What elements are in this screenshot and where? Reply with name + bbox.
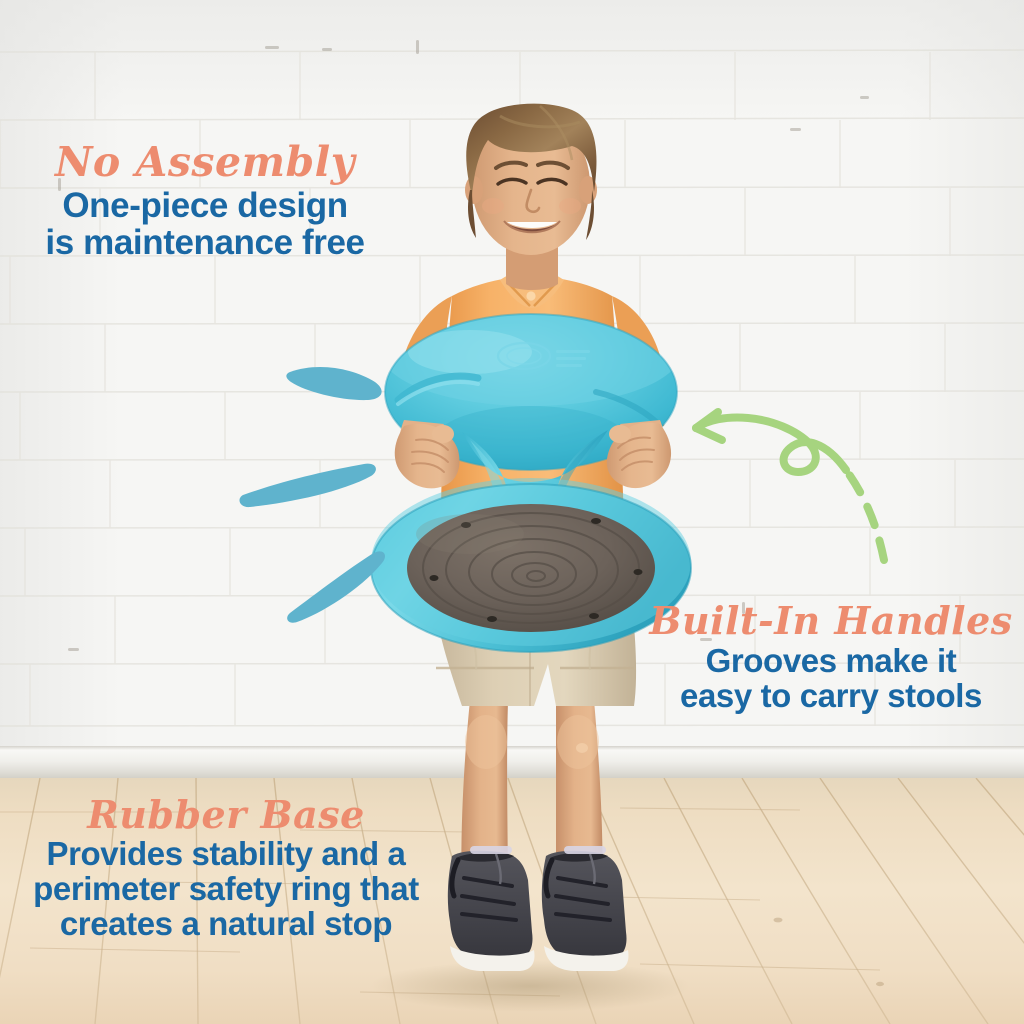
callout-heading-built-in-handles: Grooves make it easy to carry stools — [638, 644, 1024, 714]
callout-no-assembly: No Assembly One-piece design is maintena… — [0, 142, 410, 261]
callout-built-in-handles: Built-In Handles Grooves make it easy to… — [638, 602, 1024, 714]
callout-script-built-in-handles: Built-In Handles — [638, 602, 1024, 640]
callout-heading-rubber-base: Provides stability and a perimeter safet… — [0, 837, 452, 942]
product-infographic: No Assembly One-piece design is maintena… — [0, 0, 1024, 1024]
callout-heading-no-assembly: One-piece design is maintenance free — [0, 187, 410, 261]
callout-script-no-assembly: No Assembly — [0, 142, 410, 183]
callout-rubber-base: Rubber Base Provides stability and a per… — [0, 796, 452, 942]
callout-script-rubber-base: Rubber Base — [0, 796, 452, 834]
